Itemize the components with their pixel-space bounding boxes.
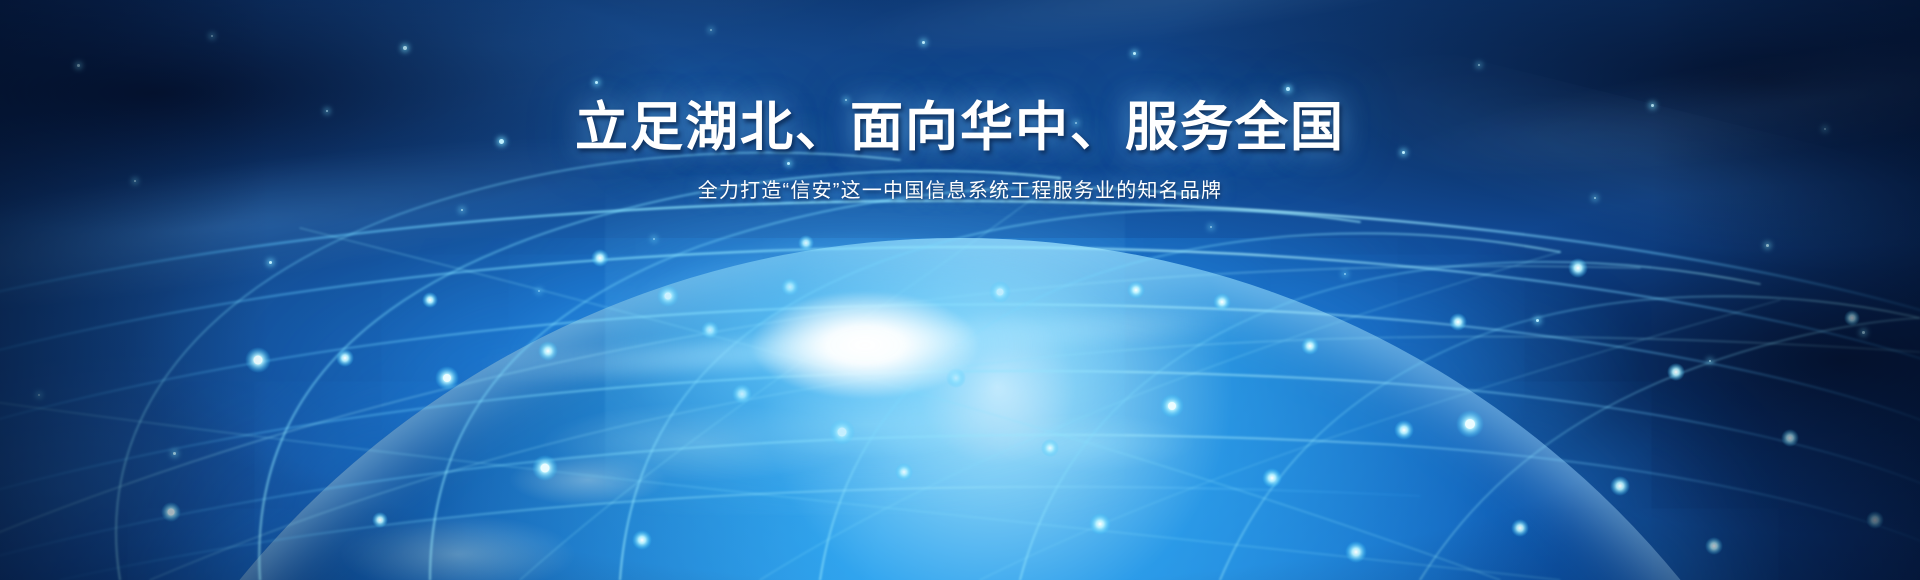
- globe-container: [0, 238, 1920, 580]
- hero-banner: 立足湖北、面向华中、服务全国 全力打造“信安”这一中国信息系统工程服务业的知名品…: [0, 0, 1920, 580]
- globe-sphere: [30, 238, 1890, 580]
- globe-atmosphere-limb: [30, 238, 1890, 580]
- banner-copy: 立足湖北、面向华中、服务全国 全力打造“信安”这一中国信息系统工程服务业的知名品…: [0, 98, 1920, 203]
- banner-subline: 全力打造“信安”这一中国信息系统工程服务业的知名品牌: [0, 174, 1920, 203]
- banner-headline: 立足湖北、面向华中、服务全国: [0, 98, 1920, 157]
